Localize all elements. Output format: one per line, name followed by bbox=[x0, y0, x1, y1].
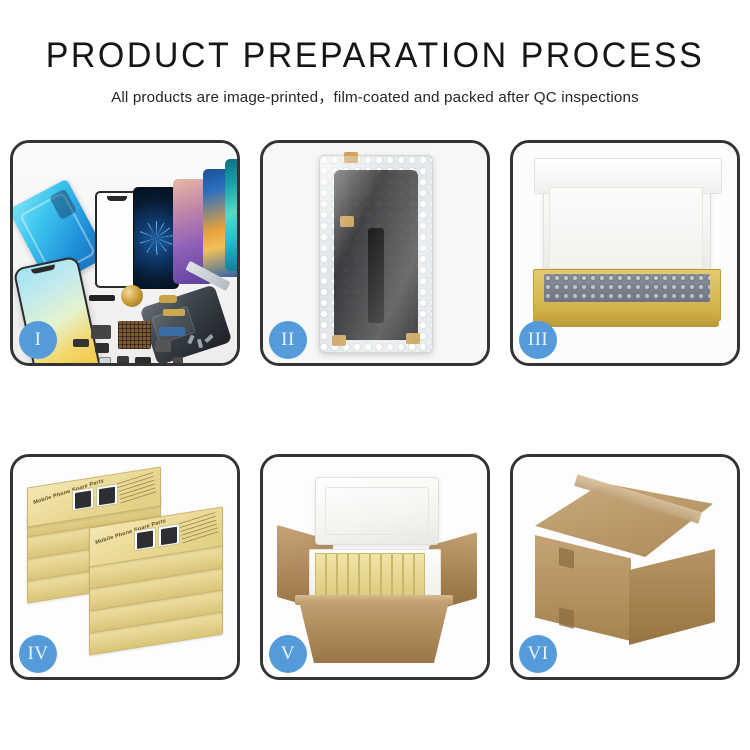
part-icon bbox=[73, 339, 89, 347]
part-icon bbox=[89, 295, 115, 301]
foam-sheet-icon bbox=[549, 187, 703, 269]
part-icon bbox=[159, 295, 177, 303]
part-icon bbox=[95, 343, 109, 353]
phone-chassis-icon bbox=[140, 284, 233, 363]
carton-label-icon bbox=[559, 547, 574, 569]
step-badge-1: I bbox=[19, 321, 57, 359]
box-spec-text bbox=[179, 512, 218, 546]
tape-icon bbox=[340, 216, 354, 227]
tape-icon bbox=[332, 335, 346, 346]
bubble-fill-icon bbox=[544, 274, 710, 302]
product-preparation-infographic: PRODUCT PREPARATION PROCESS All products… bbox=[0, 0, 750, 750]
part-icon bbox=[135, 357, 151, 363]
flex-cable-icon bbox=[368, 228, 384, 323]
vibration-motor-icon bbox=[121, 285, 143, 307]
step-badge-4: IV bbox=[19, 635, 57, 673]
packed-retail-boxes bbox=[315, 553, 433, 597]
step-badge-2: II bbox=[269, 321, 307, 359]
step-badge-6: VI bbox=[519, 635, 557, 673]
box-spec-text bbox=[117, 472, 156, 506]
bubble-wrap-bag-icon bbox=[319, 155, 433, 353]
page-title: PRODUCT PREPARATION PROCESS bbox=[11, 38, 739, 73]
part-icon bbox=[117, 356, 129, 363]
step-badge-3: III bbox=[519, 321, 557, 359]
carton-left-face bbox=[535, 535, 631, 641]
step-panel-5: V bbox=[260, 454, 490, 680]
box-window-icon bbox=[96, 483, 118, 507]
wrapped-part-icon bbox=[334, 170, 418, 340]
part-icon bbox=[159, 327, 185, 336]
step-panel-4: Mobile Phone Spare Parts Mobile Phone Sp… bbox=[10, 454, 240, 680]
screws-icon bbox=[189, 333, 219, 351]
box-window-icon bbox=[134, 527, 156, 551]
step-panel-1: I bbox=[10, 140, 240, 366]
step-badge-5: V bbox=[269, 635, 307, 673]
step-panel-2: II bbox=[260, 140, 490, 366]
part-icon bbox=[173, 357, 183, 363]
page-subtitle: All products are image-printed，film-coat… bbox=[0, 85, 750, 107]
box-window-icon bbox=[72, 487, 94, 511]
box-window-icon bbox=[158, 523, 180, 547]
styrofoam-lid-icon bbox=[315, 477, 439, 545]
tape-icon bbox=[344, 152, 358, 163]
carton-right-face bbox=[629, 549, 715, 645]
part-icon bbox=[91, 325, 111, 339]
teal-screen-icon bbox=[225, 159, 237, 271]
box-front-face bbox=[533, 313, 719, 327]
part-icon bbox=[99, 357, 111, 363]
step-panel-6: VI bbox=[510, 454, 740, 680]
part-icon bbox=[155, 340, 171, 352]
tape-icon bbox=[406, 333, 420, 344]
header: PRODUCT PREPARATION PROCESS All products… bbox=[0, 0, 750, 107]
mesh-grid-part-icon bbox=[118, 321, 151, 349]
process-step-grid: I II bbox=[10, 140, 740, 680]
step-panel-3: III bbox=[510, 140, 740, 366]
part-icon bbox=[163, 309, 185, 316]
carton-body bbox=[299, 601, 449, 663]
carton-label-icon bbox=[559, 607, 574, 629]
box-stack: Mobile Phone Spare Parts Mobile Phone Sp… bbox=[27, 477, 227, 663]
